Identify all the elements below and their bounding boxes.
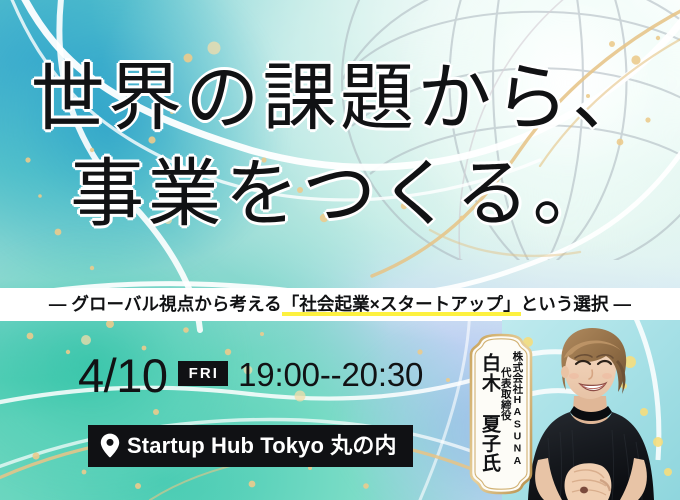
speaker-company: 株式会社HASUNA	[512, 351, 523, 467]
event-time: 19:00--20:30	[238, 358, 423, 391]
speaker-text-columns: 株式会社HASUNA 代表取締役 白木 夏子氏	[466, 333, 536, 495]
speaker-role: 代表取締役	[500, 367, 511, 421]
location-pin-icon	[100, 433, 120, 458]
subtitle-highlight: 「社会起業×スタートアップ」	[282, 294, 521, 316]
date-row: 4/10 FRI 19:00--20:30	[78, 352, 423, 399]
event-poster: 世界の課題から、 事業をつくる。 ― グローバル視点から考える「社会起業×スター…	[0, 0, 680, 500]
event-date: 4/10	[78, 352, 168, 399]
venue-name: Startup Hub Tokyo 丸の内	[127, 435, 397, 457]
subtitle-tail: という選択 ―	[521, 294, 631, 314]
subtitle-text: ― グローバル視点から考える「社会起業×スタートアップ」という選択 ―	[49, 296, 631, 314]
speaker-name-plate: 株式会社HASUNA 代表取締役 白木 夏子氏	[466, 333, 536, 495]
speaker-name: 白木 夏子氏	[480, 353, 499, 472]
subtitle-lead: ― グローバル視点から考える	[49, 294, 282, 314]
venue-bar: Startup Hub Tokyo 丸の内	[88, 425, 413, 467]
weekday-badge: FRI	[178, 361, 228, 386]
subtitle-band: ― グローバル視点から考える「社会起業×スタートアップ」という選択 ―	[0, 288, 680, 321]
